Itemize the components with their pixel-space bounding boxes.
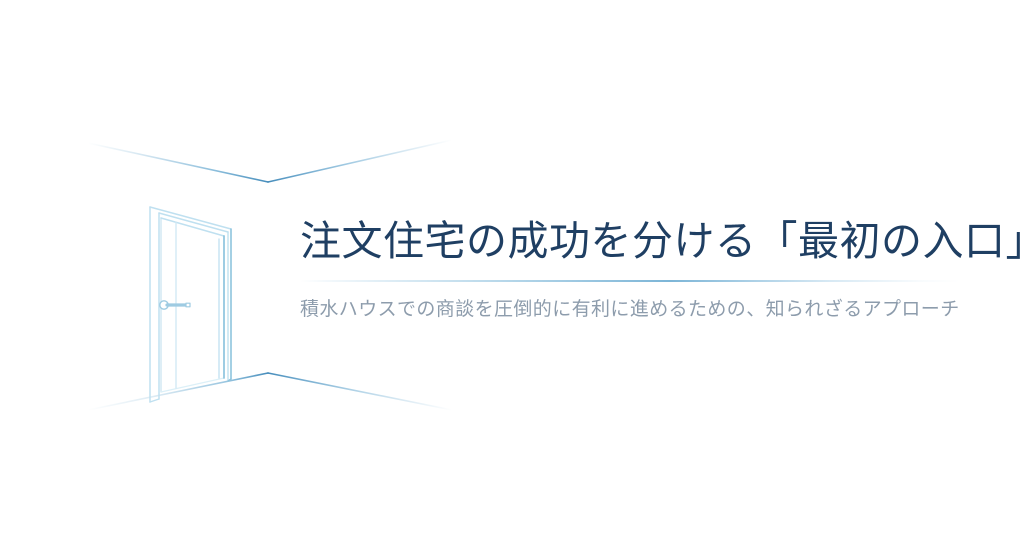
door-casing-head-outer [150,207,231,229]
door-casing-left-foot [150,399,159,402]
door-panel-top-edge [161,218,224,236]
title-slide: 注文住宅の成功を分ける「最初の入口」 積水ハウスでの商談を圧倒的に有利に進めるた… [0,0,1024,548]
page-title: 注文住宅の成功を分ける「最初の入口」 [300,216,980,266]
page-subtitle: 積水ハウスでの商談を圧倒的に有利に進めるための、知られざるアプローチ [300,296,980,325]
title-text-block: 注文住宅の成功を分ける「最初の入口」 積水ハウスでの商談を圧倒的に有利に進めるた… [300,216,980,325]
title-divider [300,280,960,282]
door-jamb-right-foot [228,379,231,381]
door-panel-bottom-edge [161,378,224,392]
door-handle-lever-tip [186,303,190,307]
floor-line-left [88,373,268,410]
ceiling-line-right [268,140,452,182]
door-handle-rosette [160,301,168,309]
floor-line-right [268,373,452,410]
ceiling-line-left [88,143,268,182]
door-casing-head-inner [159,213,228,232]
